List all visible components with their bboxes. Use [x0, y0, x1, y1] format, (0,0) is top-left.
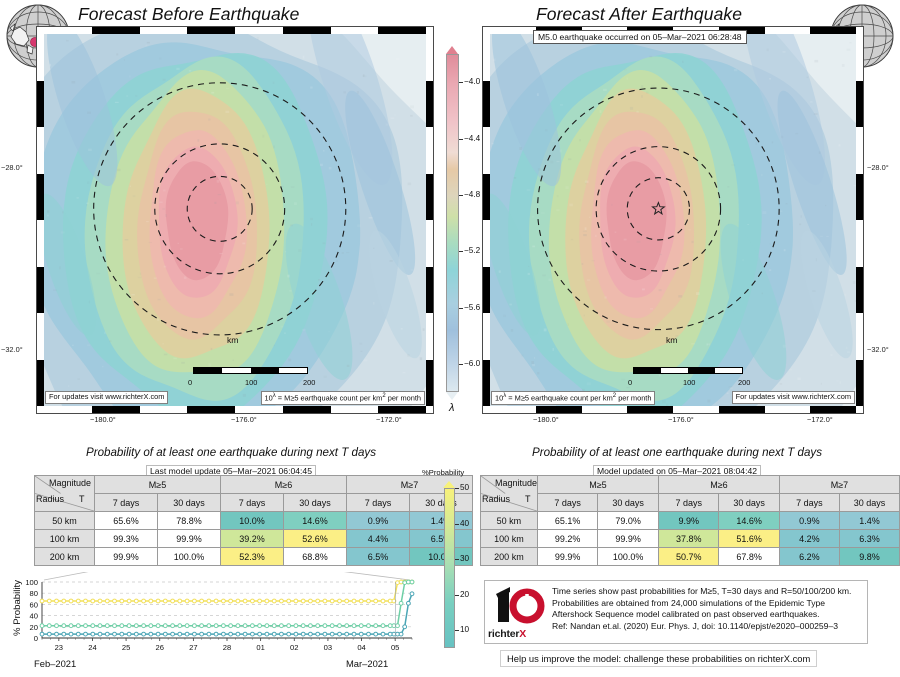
table-probability-cell[interactable]: 100.0%	[158, 548, 221, 566]
table-probability-cell[interactable]: 68.8%	[284, 548, 347, 566]
colorbar-lambda-label: λ	[449, 402, 454, 414]
timeseries-end-month-label: Mar–2021	[346, 658, 388, 669]
table-period-header: 30 days	[719, 494, 779, 512]
corner-radius-label: Radius	[482, 494, 510, 504]
table-probability-cell[interactable]: 9.9%	[659, 512, 719, 530]
map-canvas[interactable]	[490, 34, 856, 406]
table-radius-header: 50 km	[35, 512, 95, 530]
table-radius-header: 50 km	[481, 512, 538, 530]
timeseries-y-tick: 20	[30, 623, 38, 632]
right-table-title: Probability of at least one earthquake d…	[482, 446, 872, 459]
table-magnitude-group: M≥7	[779, 476, 899, 494]
timeseries-line-R100km	[42, 582, 412, 626]
table-probability-cell[interactable]: 0.9%	[347, 512, 410, 530]
corner-radius-label: Radius	[36, 494, 64, 504]
info-line-4: Ref: Nandan et.al. (2020) Eur. Phys. J, …	[552, 621, 862, 633]
richterx-logo-icon	[492, 584, 548, 628]
map-lon-tick: −172.0°	[807, 415, 833, 424]
map-lon-tick: −180.0°	[90, 415, 116, 424]
table-period-header: 7 days	[659, 494, 719, 512]
table-probability-cell[interactable]: 4.4%	[347, 530, 410, 548]
probability-tick-mark	[455, 595, 459, 596]
table-probability-cell[interactable]: 51.6%	[719, 530, 779, 548]
scale-unit-label: km	[666, 335, 677, 345]
table-magnitude-group: M≥6	[659, 476, 780, 494]
probability-colorbar-arrow	[443, 481, 455, 488]
table-probability-cell[interactable]: 99.9%	[158, 530, 221, 548]
scale-unit-label: km	[227, 335, 238, 345]
info-line-2: Probabilities are obtained from 24,000 s…	[552, 598, 862, 610]
colorbar-arrow-up	[446, 46, 458, 54]
table-probability-cell[interactable]: 99.3%	[95, 530, 158, 548]
table-probability-cell[interactable]: 79.0%	[598, 512, 659, 530]
timeseries-x-tick: 01	[256, 643, 264, 652]
colorbar-tick-mark	[459, 251, 463, 252]
forecast-map-before[interactable]: −28.0°−32.0°−180.0°−176.0°−172.0°km01002…	[36, 26, 434, 414]
table-probability-cell[interactable]: 10.0%	[221, 512, 284, 530]
probability-timeseries-chart[interactable]: 0204060801002324252627280102030405% Prob…	[0, 572, 420, 672]
colorbar-tick-mark	[459, 195, 463, 196]
colorbar-tick-label: −5.6	[464, 303, 480, 312]
map-lat-tick: −28.0°	[1, 163, 23, 172]
map-density-field	[44, 34, 426, 406]
colorbar-tick-mark	[459, 82, 463, 83]
table-probability-cell[interactable]: 65.6%	[95, 512, 158, 530]
colorbar-tick-mark	[459, 139, 463, 140]
probability-colorbar-gradient	[444, 488, 455, 648]
probability-table-before[interactable]: MagnitudeRadiusTM≥5M≥6M≥77 days30 days7 …	[34, 475, 473, 566]
timeseries-start-month-label: Feb–2021	[34, 658, 76, 669]
corner-magnitude-label: Magnitude	[49, 478, 91, 488]
timeseries-y-tick: 100	[25, 578, 38, 587]
map-footer-updates-left[interactable]: For updates visit www.richterX.com	[45, 391, 168, 404]
timeseries-x-tick: 25	[122, 643, 130, 652]
colorbar-tick-mark	[459, 308, 463, 309]
map-lat-tick: −28.0°	[867, 163, 889, 172]
map-scale-bar	[633, 367, 743, 374]
probability-tick-mark	[455, 559, 459, 560]
map-tick-band-bottom	[490, 406, 856, 413]
scale-number: 0	[628, 378, 632, 387]
brand-text-richter: richter	[488, 628, 519, 640]
table-row: 200 km99.9%100.0%52.3%68.8%6.5%10.0%	[35, 548, 473, 566]
map-density-field	[490, 34, 856, 406]
lambda-colorbar: −4.0−4.4−4.8−5.2−5.6−6.0λ	[440, 36, 480, 414]
table-probability-cell[interactable]: 99.2%	[537, 530, 597, 548]
right-panel-title: Forecast After Earthquake	[536, 4, 742, 25]
table-probability-cell[interactable]: 1.4%	[839, 512, 899, 530]
table-magnitude-group: M≥5	[537, 476, 658, 494]
table-period-header: 30 days	[158, 494, 221, 512]
timeseries-y-tick: 0	[34, 634, 38, 643]
table-probability-cell[interactable]: 14.6%	[719, 512, 779, 530]
map-lon-tick: −176.0°	[231, 415, 257, 424]
map-scale-bar	[193, 367, 308, 374]
table-probability-cell[interactable]: 9.8%	[839, 548, 899, 566]
table-radius-header: 100 km	[481, 530, 538, 548]
timeseries-y-tick: 40	[30, 612, 38, 621]
corner-t-label: T	[79, 494, 85, 504]
table-probability-cell[interactable]: 99.9%	[598, 530, 659, 548]
table-radius-header: 100 km	[35, 530, 95, 548]
timeseries-x-tick: 23	[55, 643, 63, 652]
map-canvas[interactable]	[44, 34, 426, 406]
timeseries-y-tick: 60	[30, 600, 38, 609]
colorbar-tick-label: −4.8	[464, 190, 480, 199]
table-period-header: 7 days	[537, 494, 597, 512]
table-row: 200 km99.9%100.0%50.7%67.8%6.2%9.8%	[481, 548, 900, 566]
table-probability-cell[interactable]: 99.9%	[537, 548, 597, 566]
info-line-3: Aftershock Sequence model calibrated on …	[552, 609, 862, 621]
table-probability-cell[interactable]: 99.9%	[95, 548, 158, 566]
timeseries-x-tick: 05	[391, 643, 399, 652]
table-probability-cell[interactable]: 14.6%	[284, 512, 347, 530]
probability-colorbar-title: %Probability	[422, 468, 464, 477]
brand-text-x: X	[519, 628, 526, 640]
table-probability-cell[interactable]: 52.6%	[284, 530, 347, 548]
probability-tick-mark	[455, 488, 459, 489]
map-tick-band-left	[483, 34, 490, 406]
table-probability-cell[interactable]: 39.2%	[221, 530, 284, 548]
timeseries-x-tick: 28	[223, 643, 231, 652]
map-footer-rate-right: 10λ = M≥5 earthquake count per km2 per m…	[491, 391, 655, 405]
corner-magnitude-label: Magnitude	[495, 478, 537, 488]
colorbar-tick-mark	[459, 364, 463, 365]
table-corner-cell: MagnitudeRadiusT	[35, 476, 95, 512]
probability-colorbar: %Probability5040302010	[422, 466, 474, 662]
probability-table-before-grid[interactable]: MagnitudeRadiusTM≥5M≥6M≥77 days30 days7 …	[34, 475, 473, 566]
table-probability-cell[interactable]: 6.2%	[779, 548, 839, 566]
colorbar-tick-label: −4.0	[464, 77, 480, 86]
probability-tick-label: 30	[460, 554, 469, 563]
scale-number: 100	[683, 378, 695, 387]
table-probability-cell[interactable]: 0.9%	[779, 512, 839, 530]
map-lon-tick: −172.0°	[376, 415, 402, 424]
map-lon-tick: −180.0°	[533, 415, 559, 424]
table-probability-cell[interactable]: 65.1%	[537, 512, 597, 530]
table-probability-cell[interactable]: 100.0%	[598, 548, 659, 566]
colorbar-tick-label: −5.2	[464, 246, 480, 255]
left-table-title: Probability of at least one earthquake d…	[36, 446, 426, 459]
table-probability-cell[interactable]: 67.8%	[719, 548, 779, 566]
table-row: 100 km99.2%99.9%37.8%51.6%4.2%6.3%	[481, 530, 900, 548]
scale-number: 100	[245, 378, 257, 387]
probability-tick-mark	[455, 630, 459, 631]
map-lon-tick: −176.0°	[668, 415, 694, 424]
map-lat-tick: −32.0°	[867, 345, 889, 354]
colorbar-tick-label: −4.4	[464, 134, 480, 143]
help-banner[interactable]: Help us improve the model: challenge the…	[500, 650, 817, 667]
probability-table-after-grid[interactable]: MagnitudeRadiusTM≥5M≥6M≥77 days30 days7 …	[480, 475, 900, 566]
table-magnitude-group: M≥6	[221, 476, 347, 494]
table-probability-cell[interactable]: 6.3%	[839, 530, 899, 548]
table-period-header: 30 days	[284, 494, 347, 512]
map-footer-rate-left: 10λ = M≥5 earthquake count per km2 per m…	[261, 391, 425, 405]
table-probability-cell[interactable]: 52.3%	[221, 548, 284, 566]
map-footer-updates-right[interactable]: For updates visit www.richterX.com	[732, 391, 855, 404]
table-period-header: 7 days	[221, 494, 284, 512]
table-probability-cell[interactable]: 4.2%	[779, 530, 839, 548]
map-tick-band-top	[44, 27, 426, 34]
corner-t-label: T	[525, 494, 531, 504]
table-probability-cell[interactable]: 78.8%	[158, 512, 221, 530]
table-row: 50 km65.6%78.8%10.0%14.6%0.9%1.4%	[35, 512, 473, 530]
table-row: 100 km99.3%99.9%39.2%52.6%4.4%6.5%	[35, 530, 473, 548]
table-probability-cell[interactable]: 50.7%	[659, 548, 719, 566]
table-radius-header: 200 km	[35, 548, 95, 566]
richterx-logo	[492, 584, 548, 633]
table-period-header: 30 days	[598, 494, 659, 512]
earthquake-event-banner: M5.0 earthquake occurred on 05–Mar–2021 …	[533, 30, 747, 44]
map-lat-tick: −32.0°	[1, 345, 23, 354]
timeseries-x-tick: 24	[88, 643, 96, 652]
table-corner-cell: MagnitudeRadiusT	[481, 476, 538, 512]
table-period-header: 7 days	[779, 494, 839, 512]
table-magnitude-group: M≥5	[95, 476, 221, 494]
timeseries-svg: 0204060801002324252627280102030405	[0, 572, 420, 672]
probability-tick-label: 10	[460, 625, 469, 634]
map-tick-band-right	[426, 34, 433, 406]
table-period-header: 7 days	[95, 494, 158, 512]
probability-tick-label: 40	[460, 519, 469, 528]
timeseries-x-tick: 27	[189, 643, 197, 652]
info-text: Time series show past probabilities for …	[552, 586, 862, 632]
table-probability-cell[interactable]: 37.8%	[659, 530, 719, 548]
table-probability-cell[interactable]: 6.5%	[347, 548, 410, 566]
probability-table-after[interactable]: MagnitudeRadiusTM≥5M≥6M≥77 days30 days7 …	[480, 475, 900, 566]
timeseries-x-tick: 02	[290, 643, 298, 652]
colorbar-tick-label: −6.0	[464, 359, 480, 368]
colorbar-arrow-down	[446, 392, 458, 400]
timeseries-line-R50km	[42, 594, 412, 634]
timeseries-y-axis-label: % Probability	[12, 580, 23, 636]
timeseries-line-R200km	[42, 582, 412, 601]
map-tick-band-right	[856, 34, 863, 406]
forecast-map-after[interactable]: −28.0°−32.0°−180.0°−176.0°−172.0°km01002…	[482, 26, 864, 414]
scale-number: 0	[188, 378, 192, 387]
timeseries-x-tick: 03	[324, 643, 332, 652]
map-tick-band-bottom	[44, 406, 426, 413]
lambda-colorbar-gradient	[446, 54, 459, 392]
table-row: 50 km65.1%79.0%9.9%14.6%0.9%1.4%	[481, 512, 900, 530]
timeseries-x-tick: 04	[357, 643, 365, 652]
left-panel-title: Forecast Before Earthquake	[78, 4, 299, 25]
scale-number: 200	[303, 378, 315, 387]
probability-tick-label: 20	[460, 590, 469, 599]
timeseries-y-tick: 80	[30, 589, 38, 598]
timeseries-x-tick: 26	[156, 643, 164, 652]
scale-number: 200	[738, 378, 750, 387]
table-radius-header: 200 km	[481, 548, 538, 566]
probability-tick-label: 50	[460, 483, 469, 492]
table-period-header: 7 days	[347, 494, 410, 512]
map-tick-band-left	[37, 34, 44, 406]
probability-tick-mark	[455, 524, 459, 525]
brand-label: richterX	[488, 628, 526, 640]
info-line-1: Time series show past probabilities for …	[552, 586, 862, 598]
table-period-header: 30 days	[839, 494, 899, 512]
